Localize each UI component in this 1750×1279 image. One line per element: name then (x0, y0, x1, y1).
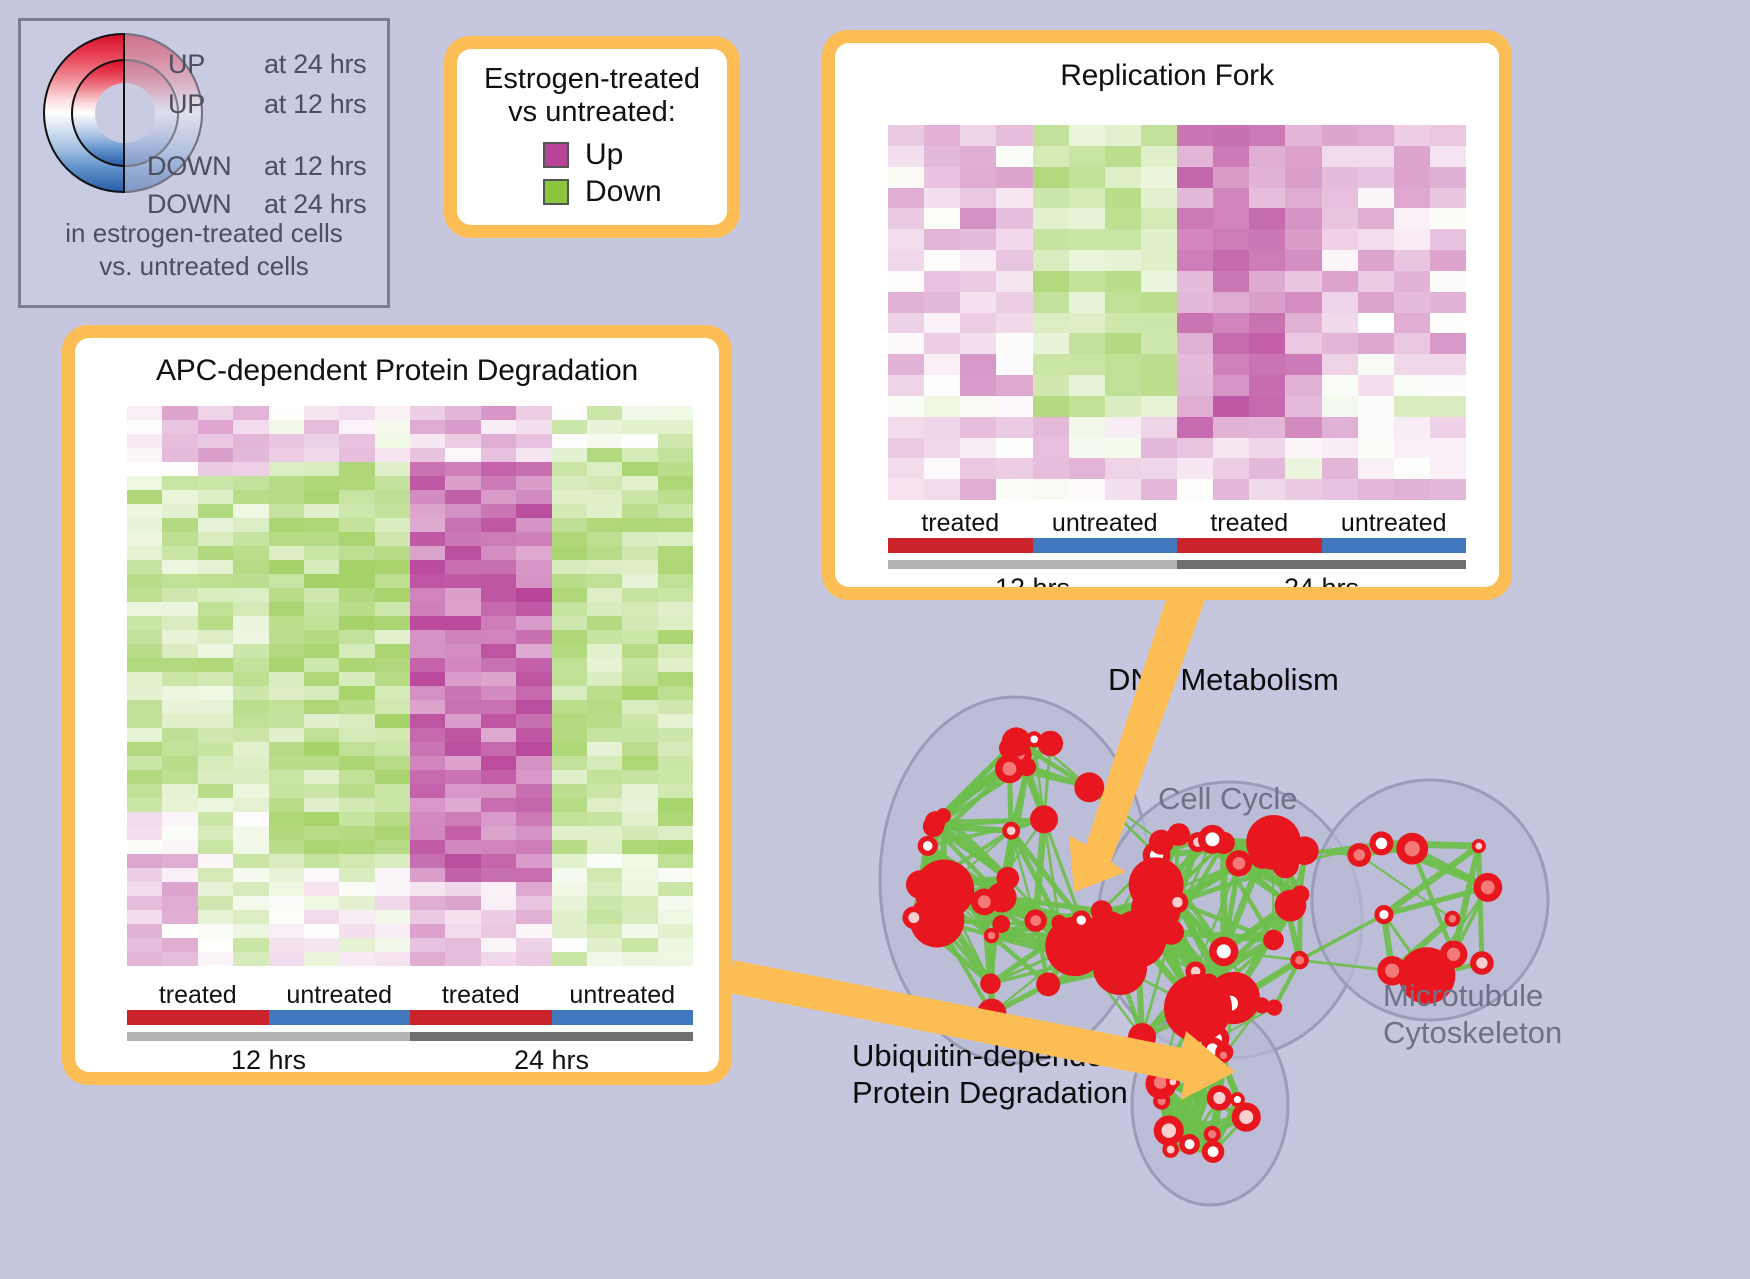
arrow-replication-fork-to-dna-metabolism (1069, 600, 1205, 892)
arrow-apc-to-ubiquitin (729, 960, 1235, 1100)
connector-arrows (0, 0, 1750, 1279)
figure-root: UP at 24 hrs UP at 12 hrs DOWN at 12 hrs… (0, 0, 1750, 1279)
